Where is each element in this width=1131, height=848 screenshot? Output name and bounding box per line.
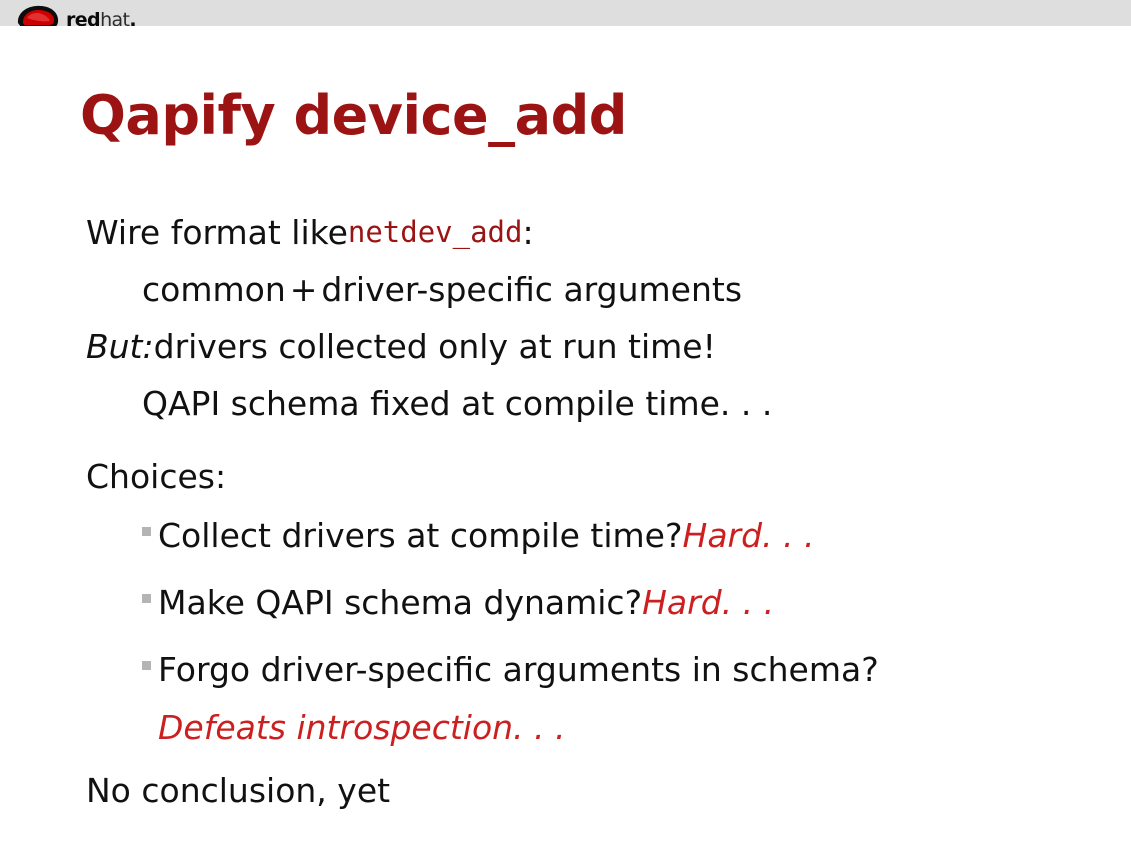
choices-list: Collect drivers at compile time? Hard. .… — [86, 505, 1086, 754]
wire-format-suffix: : — [522, 216, 533, 249]
bullet-text-row: Make QAPI schema dynamic? Hard. . . — [158, 572, 1086, 633]
list-item[interactable]: Make QAPI schema dynamic? Hard. . . — [86, 572, 1086, 633]
driver-specific-label: driver-specific arguments — [321, 273, 742, 306]
qapi-compile-line: QAPI schema fixed at compile time. . . — [86, 375, 1086, 432]
bullet-0-text: Collect drivers at compile time? — [158, 519, 683, 552]
but-rest: drivers collected only at run time! — [154, 330, 716, 363]
slide-title: Qapify device_add — [80, 88, 627, 145]
qapi-compile-text: QAPI schema fixed at compile time. . . — [142, 387, 772, 420]
closing-line: No conclusion, yet — [86, 760, 1086, 820]
square-bullet-icon — [142, 594, 151, 603]
netdev-add-code: netdev_add — [348, 218, 523, 247]
closing-text: No conclusion, yet — [86, 774, 390, 807]
bullet-2-text: Forgo driver-specific arguments in schem… — [158, 653, 879, 686]
wire-format-prefix: Wire format like — [86, 216, 348, 249]
common-label: common — [142, 273, 286, 306]
spacer-before-choices — [86, 432, 1086, 448]
bullet-1-text: Make QAPI schema dynamic? — [158, 586, 642, 619]
wire-format-line: Wire format like netdev_add: — [86, 204, 1086, 261]
common-args-line: common+driver-specific arguments — [86, 261, 1086, 318]
list-item[interactable]: Collect drivers at compile time? Hard. .… — [86, 505, 1086, 566]
bullet-2-emphasis: Defeats introspection. . . — [158, 711, 566, 744]
slide-canvas: Qapify device_add Wire format like netde… — [0, 26, 1131, 848]
slide-content: Wire format like netdev_add: common+driv… — [86, 204, 1086, 820]
header-band — [0, 0, 1131, 26]
square-bullet-icon — [142, 527, 151, 536]
list-item[interactable]: Forgo driver-specific arguments in schem… — [86, 639, 1086, 754]
choices-label: Choices: — [86, 460, 226, 493]
bullet-0-emphasis: Hard. . . — [683, 519, 815, 552]
bullet-text-row: Collect drivers at compile time? Hard. .… — [158, 505, 1086, 566]
bullet-1-emphasis: Hard. . . — [642, 586, 774, 619]
bullet-2-emphasis-row: Defeats introspection. . . — [158, 700, 1086, 754]
bullet-text-row: Forgo driver-specific arguments in schem… — [158, 639, 1086, 700]
but-runtime-line: But: drivers collected only at run time! — [86, 318, 1086, 375]
plus-sign: + — [286, 273, 322, 306]
square-bullet-icon — [142, 661, 151, 670]
but-emphasis: But: — [86, 330, 154, 363]
choices-label-line: Choices: — [86, 448, 1086, 505]
